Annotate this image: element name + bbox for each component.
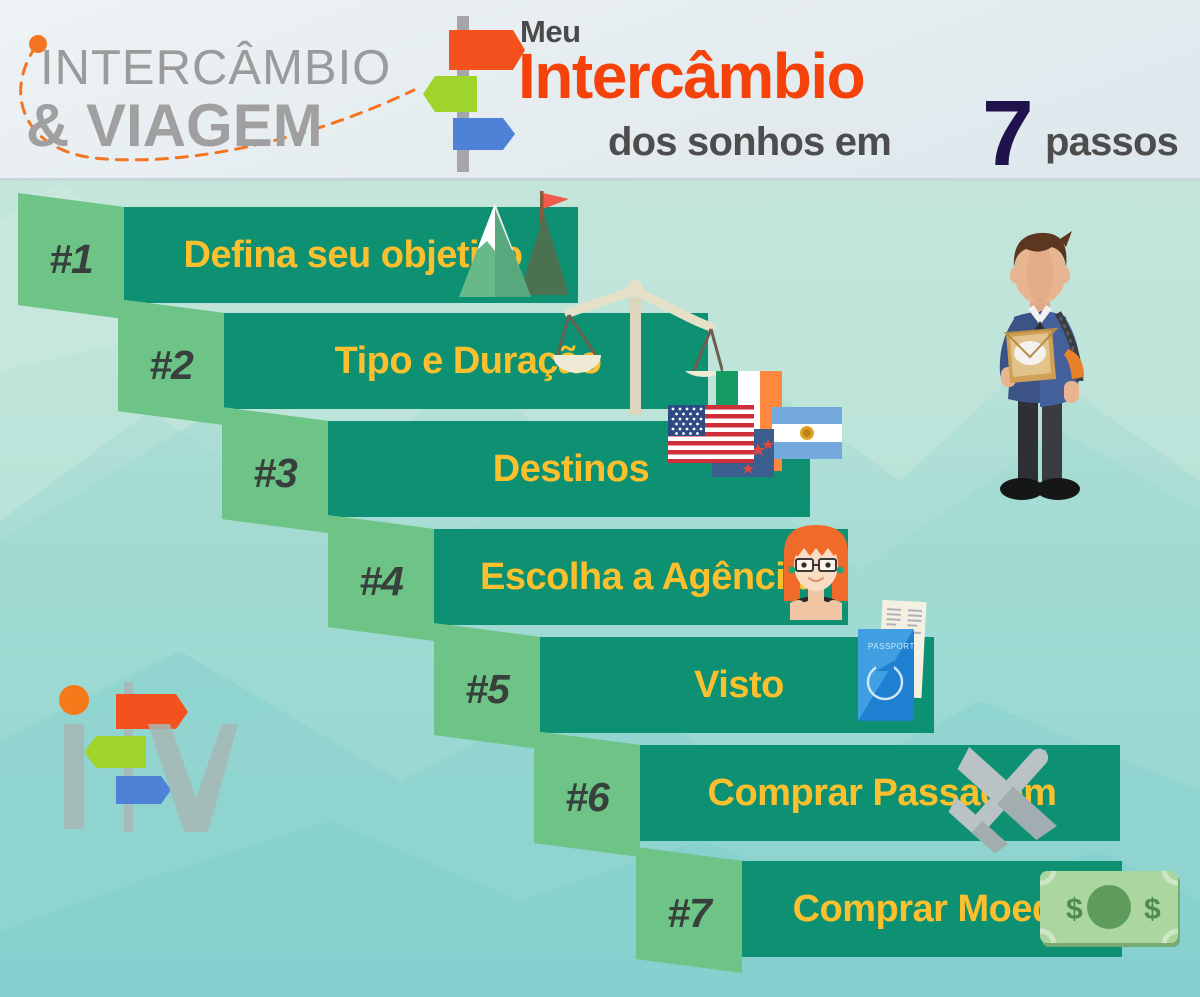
brand-line-2: & VIAGEM: [26, 91, 323, 160]
step-bar-1[interactable]: Defina seu objetivo: [86, 207, 578, 303]
student-with-book-icon: [960, 221, 1120, 511]
step-row-7[interactable]: $ $ Comprar Moeda #7: [636, 861, 1122, 957]
step-number-7: #7: [636, 850, 742, 976]
step-number-5: #5: [434, 626, 540, 752]
headline-main: Intercâmbio: [518, 44, 864, 108]
step-bar-3[interactable]: Destinos: [290, 421, 810, 517]
step-bar-5[interactable]: Visto: [502, 637, 934, 733]
headline-block: Meu Intercâmbio dos sonhos em 7 passos: [512, 8, 1200, 176]
step-number-3: #3: [222, 410, 328, 536]
step-bar-2[interactable]: Tipo e Duração: [186, 313, 708, 409]
step-number-4: #4: [328, 518, 434, 644]
steps-canvas: Defina seu objetivo #1 Tipo e Duração #2: [0, 181, 1200, 997]
step-label-6: Comprar Passagem: [602, 772, 1120, 815]
step-number-6: #6: [534, 734, 640, 860]
step-label-7: Comprar Moeda: [704, 888, 1122, 931]
step-row-3[interactable]: Destinos #3: [222, 421, 810, 517]
step-label-1: Defina seu objetivo: [86, 234, 578, 277]
step-label-5: Visto: [502, 664, 934, 707]
headline-unit: passos: [1045, 120, 1178, 165]
headline-sub: dos sonhos em: [608, 120, 891, 165]
header-banner: INTERCÂMBIO & VIAGEM Meu Intercâmbio dos…: [0, 0, 1200, 180]
step-number-1: #1: [18, 196, 124, 322]
step-row-5[interactable]: PASSPORT Visto #5: [434, 637, 934, 733]
step-row-1[interactable]: Defina seu objetivo #1: [18, 207, 578, 303]
step-tab-7[interactable]: #7: [636, 847, 742, 973]
step-tab-3[interactable]: #3: [222, 407, 328, 533]
step-label-3: Destinos: [290, 448, 810, 491]
step-row-6[interactable]: Comprar Passagem #6: [534, 745, 1120, 841]
woman-agent-icon: [770, 523, 862, 620]
step-bar-7[interactable]: Comprar Moeda: [704, 861, 1122, 957]
step-row-2[interactable]: Tipo e Duração #2: [118, 313, 708, 409]
step-tab-2[interactable]: #2: [118, 299, 224, 425]
headline-number: 7: [982, 87, 1030, 180]
step-tab-1[interactable]: #1: [18, 193, 124, 319]
step-tab-6[interactable]: #6: [534, 731, 640, 857]
step-tab-5[interactable]: #5: [434, 623, 540, 749]
iv-signpost-watermark: [48, 676, 238, 851]
step-bar-6[interactable]: Comprar Passagem: [602, 745, 1120, 841]
step-number-2: #2: [118, 302, 224, 428]
step-label-2: Tipo e Duração: [186, 340, 708, 383]
brand-logo: INTERCÂMBIO & VIAGEM: [14, 18, 464, 168]
signpost-icon: [405, 12, 525, 172]
step-tab-4[interactable]: #4: [328, 515, 434, 641]
brand-line-1: INTERCÂMBIO: [40, 40, 391, 96]
